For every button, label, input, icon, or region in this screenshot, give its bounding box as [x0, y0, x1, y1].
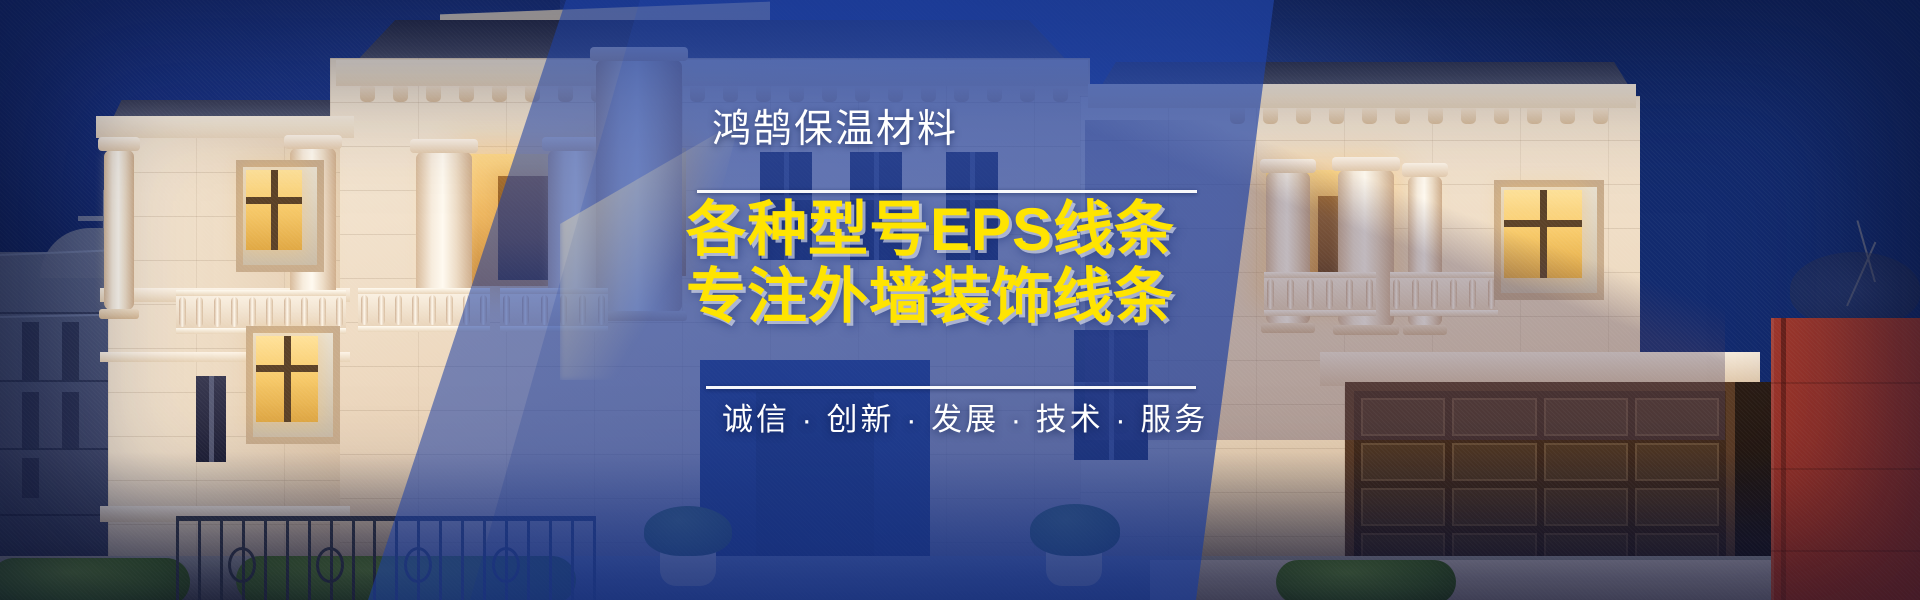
headline-line-1: 各种型号EPS线条 — [686, 196, 1175, 263]
headline-line-2: 专注外墙装饰线条 — [686, 263, 1175, 330]
headline-block: 各种型号EPS线条 专注外墙装饰线条 — [686, 196, 1175, 330]
divider-bottom — [706, 386, 1196, 389]
hero-banner: 鸿鹄保温材料 各种型号EPS线条 专注外墙装饰线条 诚信 · 创新 · 发展 ·… — [0, 0, 1920, 600]
divider-top — [697, 190, 1197, 193]
brand-name: 鸿鹄保温材料 — [712, 108, 958, 152]
banner-content: 鸿鹄保温材料 各种型号EPS线条 专注外墙装饰线条 诚信 · 创新 · 发展 ·… — [0, 0, 1920, 600]
tagline: 诚信 · 创新 · 发展 · 技术 · 服务 — [722, 400, 1208, 440]
